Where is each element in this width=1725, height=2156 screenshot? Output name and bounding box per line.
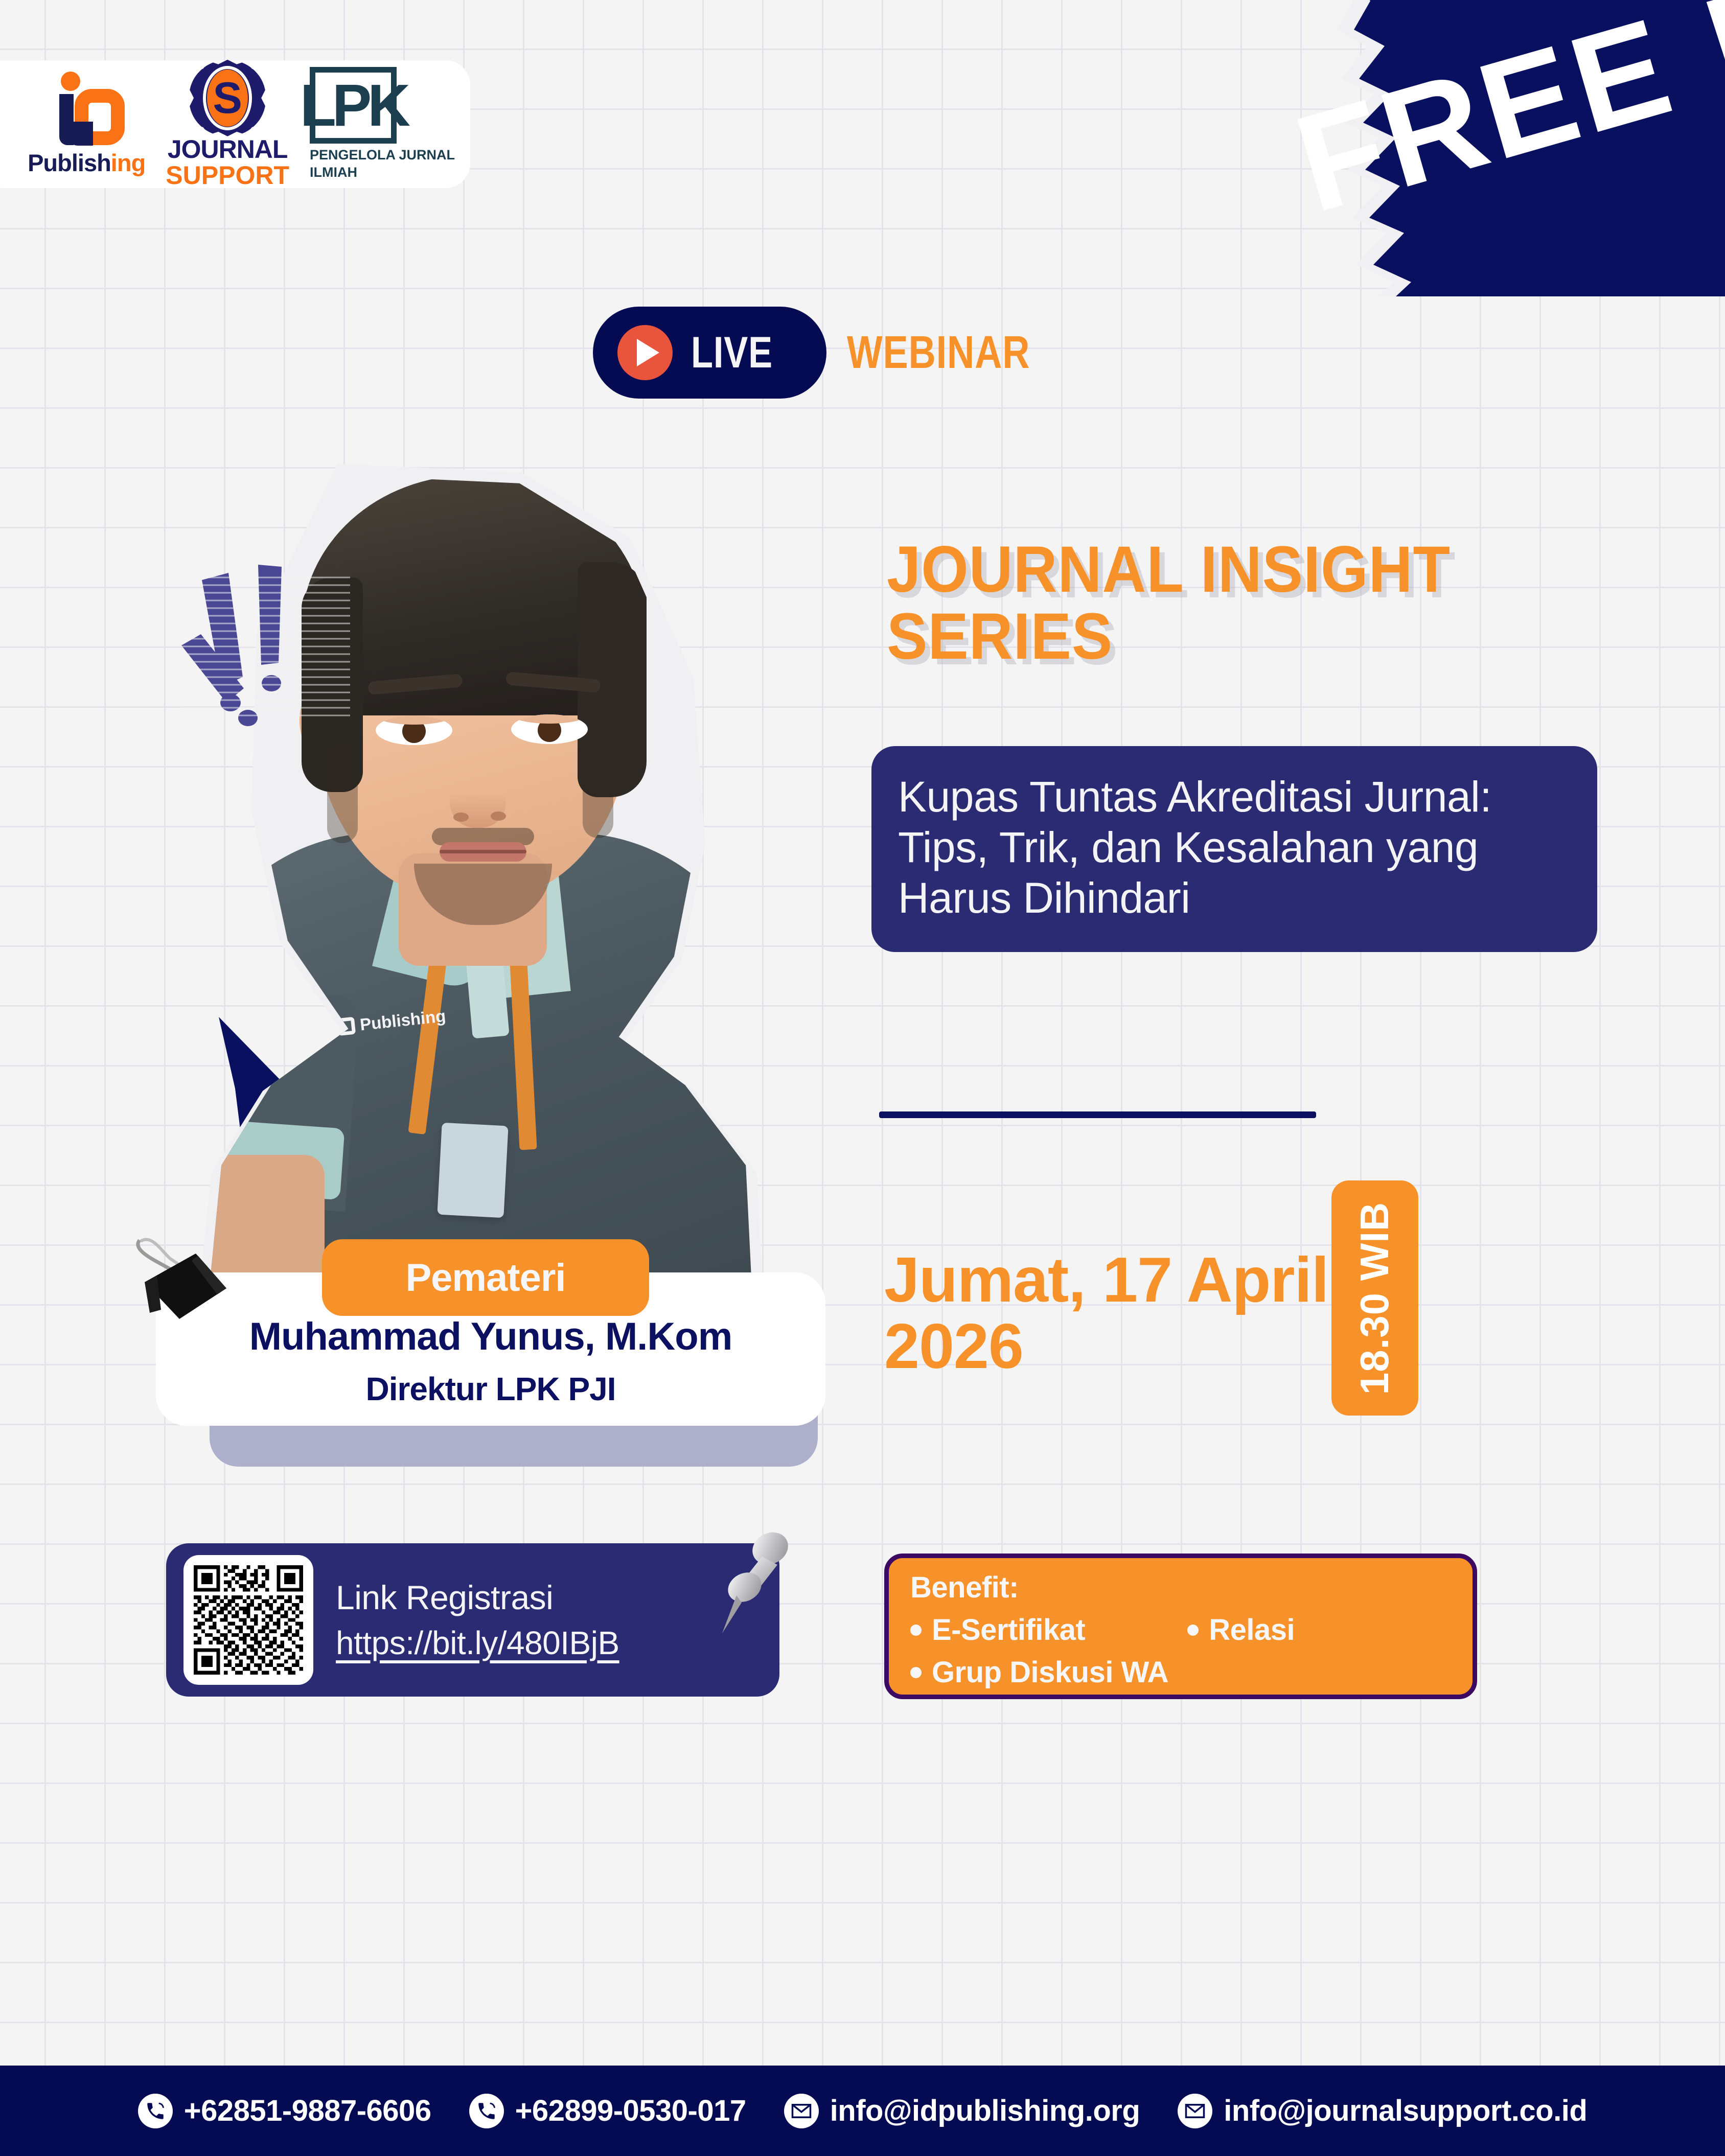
benefit-item-label: Relasi <box>1209 1613 1295 1647</box>
benefit-row-2: Grup Diskusi WA <box>910 1655 1473 1689</box>
contact-email-1[interactable]: info@idpublishing.org <box>784 2094 1140 2128</box>
contact-phone-2[interactable]: +62899-0530-017 <box>469 2094 746 2128</box>
description-card: Kupas Tuntas Akreditasi Jurnal: Tips, Tr… <box>871 746 1597 952</box>
pemateri-label: Pemateri <box>405 1256 565 1300</box>
contact-footer-bar: +62851-9887-6606 +62899-0530-017 info@id… <box>0 2066 1725 2156</box>
registration-label: Link Registrasi <box>336 1578 619 1617</box>
event-time-badge: 18.30 WIB <box>1331 1180 1418 1416</box>
webinar-label: WEBINAR <box>847 327 1030 379</box>
phone-icon <box>469 2094 504 2128</box>
journal-support-line1: JOURNAL <box>168 136 288 162</box>
speaker-name: Muhammad Yunus, M.Kom <box>249 1314 732 1359</box>
bullet-icon <box>910 1625 922 1636</box>
contact-value: info@journalsupport.co.id <box>1224 2094 1587 2128</box>
speaker-role: Direktur LPK PJI <box>365 1370 615 1408</box>
live-webinar-badge: LIVE WEBINAR <box>593 307 1070 399</box>
contact-value: +62899-0530-017 <box>515 2094 746 2128</box>
contact-value: +62851-9887-6606 <box>184 2094 431 2128</box>
journal-support-monogram: S <box>213 76 242 120</box>
phone-icon <box>138 2094 173 2128</box>
divider-line <box>879 1111 1316 1118</box>
journal-support-logo: S JOURNAL SUPPORT <box>166 60 289 189</box>
contact-phone-1[interactable]: +62851-9887-6606 <box>138 2094 431 2128</box>
qr-code-icon[interactable] <box>183 1555 313 1685</box>
play-icon <box>617 325 673 380</box>
main-title-text: JOURNAL INSIGHT SERIES <box>887 537 1567 670</box>
pushpin-icon <box>713 1528 805 1645</box>
lpk-subtitle-line1: PENGELOLA JURNAL <box>310 147 455 164</box>
event-time-text: 18.30 WIB <box>1352 1201 1398 1394</box>
journal-support-line2: SUPPORT <box>166 162 289 189</box>
live-pill: LIVE <box>593 307 826 399</box>
benefit-item-e-sertifikat: E-Sertifikat <box>910 1613 1085 1647</box>
benefit-title: Benefit: <box>910 1570 1473 1605</box>
live-label: LIVE <box>691 328 773 378</box>
publishing-mark-icon <box>48 72 125 146</box>
bullet-icon <box>910 1667 922 1678</box>
partner-logos-card: Publishing S JOURNAL SUPPORT LPK PENGELO… <box>0 60 470 188</box>
contact-email-2[interactable]: info@journalsupport.co.id <box>1178 2094 1587 2128</box>
envelope-icon <box>1178 2094 1212 2128</box>
exclamation-sketch-icon <box>181 549 350 764</box>
registration-card[interactable]: Link Registrasi https://bit.ly/480IBjB <box>166 1543 779 1697</box>
benefit-item-grup-diskusi-wa: Grup Diskusi WA <box>910 1655 1168 1689</box>
publishing-word-dark: Publish <box>28 149 111 176</box>
benefit-item-relasi: Relasi <box>1187 1613 1295 1647</box>
gear-emblem-icon: S <box>187 60 268 136</box>
contact-value: info@idpublishing.org <box>830 2094 1140 2128</box>
publishing-word-accent: ing <box>111 149 145 176</box>
lpk-mark-icon: LPK <box>310 67 397 144</box>
benefit-item-label: E-Sertifikat <box>932 1613 1085 1647</box>
pemateri-badge: Pemateri <box>322 1239 649 1316</box>
benefit-card: Benefit: E-Sertifikat Relasi Grup Diskus… <box>884 1554 1477 1699</box>
event-date: Jumat, 17 April 2026 <box>884 1247 1344 1380</box>
lpk-logo: LPK PENGELOLA JURNAL ILMIAH <box>310 67 455 181</box>
publishing-wordmark: Publishing <box>28 149 145 177</box>
registration-url-link[interactable]: https://bit.ly/480IBjB <box>336 1624 619 1662</box>
bullet-icon <box>1187 1625 1199 1636</box>
lpk-subtitle-line2: ILMIAH <box>310 164 455 181</box>
benefit-row-1: E-Sertifikat Relasi <box>910 1613 1473 1647</box>
event-date-text: Jumat, 17 April 2026 <box>884 1247 1344 1380</box>
benefit-item-label: Grup Diskusi WA <box>932 1655 1168 1689</box>
description-text: Kupas Tuntas Akreditasi Jurnal: Tips, Tr… <box>898 772 1571 923</box>
free-starburst-badge: FREE ! <box>1214 0 1725 296</box>
publishing-logo: Publishing <box>28 72 145 177</box>
lpk-acronym: LPK <box>300 76 406 135</box>
page-title: JOURNAL INSIGHT SERIES <box>887 537 1618 670</box>
envelope-icon <box>784 2094 819 2128</box>
binder-clip-icon <box>130 1229 233 1331</box>
